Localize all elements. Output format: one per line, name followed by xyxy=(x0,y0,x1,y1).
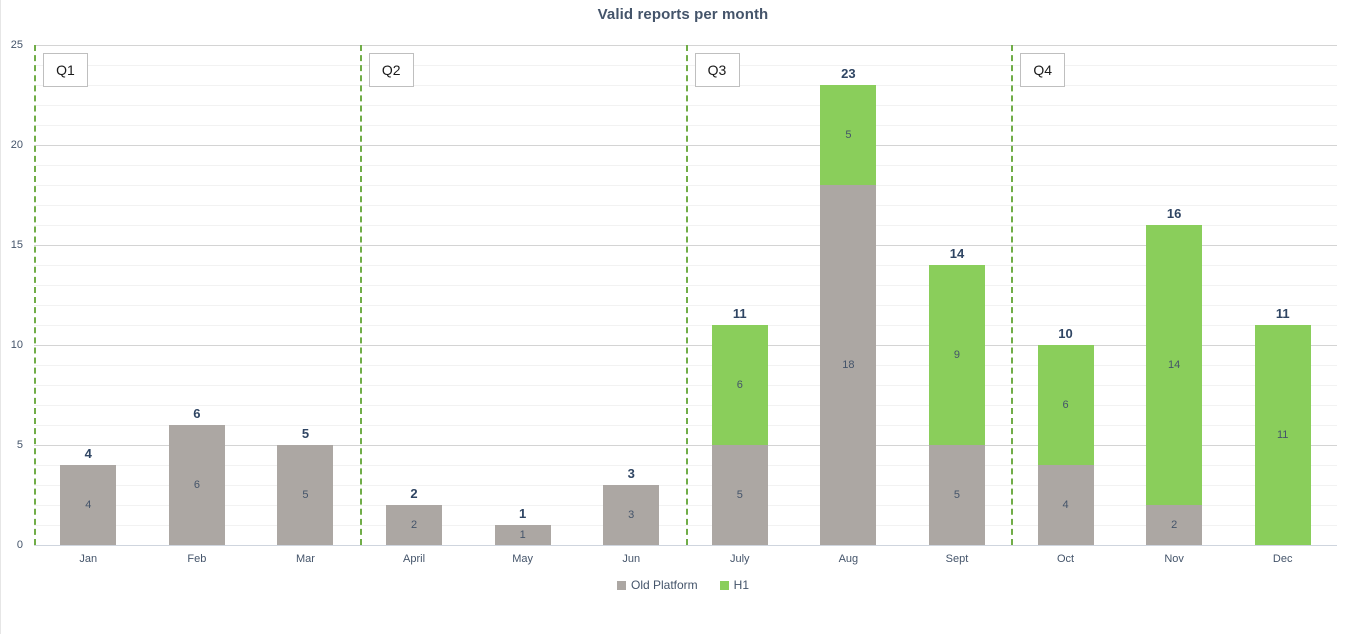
legend-swatch-icon xyxy=(720,581,729,590)
bar-segment[interactable]: 11 xyxy=(1255,325,1311,545)
bar-total-label: 14 xyxy=(929,246,985,261)
plot-area: Q1Q2Q3Q444665522113356111852359144610214… xyxy=(34,45,1337,545)
bar-total-label: 5 xyxy=(277,426,333,441)
bar-group[interactable]: 5914 xyxy=(929,45,985,545)
x-axis-tick-label: Mar xyxy=(277,553,333,565)
x-axis-tick-label: Nov xyxy=(1146,553,1202,565)
bar-segment[interactable]: 2 xyxy=(1146,505,1202,545)
y-axis-tick-label: 10 xyxy=(0,339,23,351)
x-axis-tick-label: Sept xyxy=(929,553,985,565)
x-axis-tick-label: Feb xyxy=(169,553,225,565)
bar-segment[interactable]: 14 xyxy=(1146,225,1202,505)
quarter-divider-line xyxy=(686,45,688,545)
quarter-divider-line xyxy=(360,45,362,545)
bar-group[interactable]: 33 xyxy=(603,45,659,545)
bar-total-label: 6 xyxy=(169,406,225,421)
gridline-major xyxy=(34,545,1337,546)
bar-total-label: 16 xyxy=(1146,206,1202,221)
bar-segment[interactable]: 1 xyxy=(495,525,551,545)
legend-label: H1 xyxy=(734,578,749,592)
chart-legend: Old PlatformH1 xyxy=(1,578,1364,592)
bar-group[interactable]: 4610 xyxy=(1038,45,1094,545)
legend-swatch-icon xyxy=(617,581,626,590)
legend-item[interactable]: H1 xyxy=(720,578,749,592)
bar-segment[interactable]: 5 xyxy=(820,85,876,185)
bar-total-label: 2 xyxy=(386,486,442,501)
x-axis-tick-label: July xyxy=(712,553,768,565)
legend-label: Old Platform xyxy=(631,578,698,592)
x-axis-tick-label: Jan xyxy=(60,553,116,565)
bar-segment[interactable]: 6 xyxy=(712,325,768,445)
y-axis-tick-label: 20 xyxy=(0,139,23,151)
bar-total-label: 11 xyxy=(1255,306,1311,321)
quarter-divider-line xyxy=(1011,45,1013,545)
x-axis: JanFebMarAprilMayJunJulyAugSeptOctNovDec xyxy=(34,553,1337,573)
quarter-divider-line xyxy=(34,45,36,545)
y-axis-tick-label: 15 xyxy=(0,239,23,251)
bar-segment[interactable]: 3 xyxy=(603,485,659,545)
bar-total-label: 1 xyxy=(495,506,551,521)
bar-segment[interactable]: 5 xyxy=(929,445,985,545)
bar-segment[interactable]: 6 xyxy=(1038,345,1094,465)
bar-segment[interactable]: 6 xyxy=(169,425,225,545)
bar-group[interactable]: 44 xyxy=(60,45,116,545)
bar-total-label: 4 xyxy=(60,446,116,461)
x-axis-tick-label: April xyxy=(386,553,442,565)
bar-group[interactable]: 55 xyxy=(277,45,333,545)
bar-group[interactable]: 1111 xyxy=(1255,45,1311,545)
quarter-badge-q2: Q2 xyxy=(369,53,414,87)
quarter-badge-q1: Q1 xyxy=(43,53,88,87)
bar-segment[interactable]: 4 xyxy=(1038,465,1094,545)
bar-segment[interactable]: 9 xyxy=(929,265,985,445)
x-axis-tick-label: Aug xyxy=(820,553,876,565)
bar-group[interactable]: 21416 xyxy=(1146,45,1202,545)
bar-segment[interactable]: 5 xyxy=(277,445,333,545)
bar-group[interactable]: 5611 xyxy=(712,45,768,545)
bar-group[interactable]: 22 xyxy=(386,45,442,545)
bar-total-label: 11 xyxy=(712,306,768,321)
chart-container: Valid reports per month Q1Q2Q3Q444665522… xyxy=(0,0,1364,634)
bar-segment[interactable]: 4 xyxy=(60,465,116,545)
legend-item[interactable]: Old Platform xyxy=(617,578,698,592)
bar-group[interactable]: 11 xyxy=(495,45,551,545)
y-axis-tick-label: 0 xyxy=(0,539,23,551)
x-axis-tick-label: May xyxy=(495,553,551,565)
bar-segment[interactable]: 2 xyxy=(386,505,442,545)
bar-segment[interactable]: 5 xyxy=(712,445,768,545)
bar-group[interactable]: 66 xyxy=(169,45,225,545)
quarter-badge-q3: Q3 xyxy=(695,53,740,87)
y-axis-tick-label: 5 xyxy=(0,439,23,451)
quarter-badge-q4: Q4 xyxy=(1020,53,1065,87)
bar-total-label: 3 xyxy=(603,466,659,481)
y-axis-tick-label: 25 xyxy=(0,39,23,51)
bar-total-label: 10 xyxy=(1038,326,1094,341)
bar-total-label: 23 xyxy=(820,66,876,81)
x-axis-tick-label: Dec xyxy=(1255,553,1311,565)
chart-title: Valid reports per month xyxy=(1,6,1364,23)
x-axis-tick-label: Oct xyxy=(1038,553,1094,565)
bar-segment[interactable]: 18 xyxy=(820,185,876,545)
x-axis-tick-label: Jun xyxy=(603,553,659,565)
bar-group[interactable]: 18523 xyxy=(820,45,876,545)
